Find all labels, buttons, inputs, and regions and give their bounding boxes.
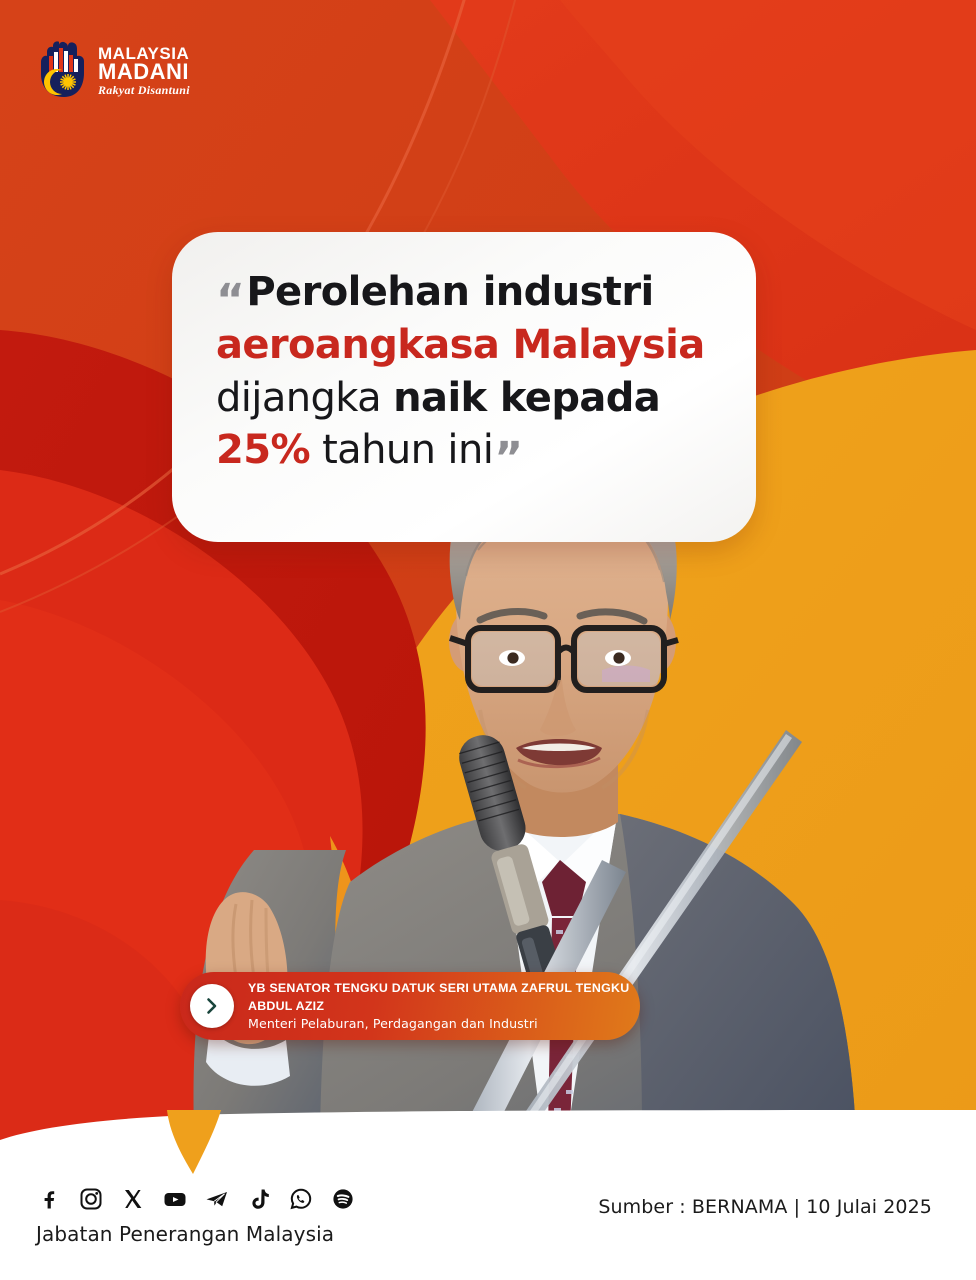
speaker-name-banner: YB SENATOR TENGKU DATUK SERI UTAMA ZAFRU… [180,972,640,1040]
quote-line-2: aeroangkasa Malaysia [216,319,730,372]
quote-card: “Perolehan industri aeroangkasa Malaysia… [172,232,756,542]
quote-close-mark: ” [494,433,522,484]
logo-line-madani: MADANI [98,61,190,83]
quote-percent: 25% [216,427,310,473]
chevron-right-icon [190,984,234,1028]
speaker-title: Menteri Pelaburan, Perdagangan dan Indus… [248,1016,538,1031]
youtube-icon[interactable] [162,1186,188,1212]
quote-line-3-bold: naik kepada [393,375,660,421]
instagram-icon[interactable] [78,1186,104,1212]
quote-open-mark: “ [216,275,244,326]
whatsapp-icon[interactable] [288,1186,314,1212]
tiktok-icon[interactable] [246,1186,272,1212]
quote-text: “Perolehan industri aeroangkasa Malaysia… [216,266,730,477]
logo-wordmark: MALAYSIA MADANI Rakyat Disantuni [98,43,190,96]
x-twitter-icon[interactable] [120,1186,146,1212]
quote-line-4-light: tahun ini [310,427,493,473]
quote-line-1-text: Perolehan industri [246,269,653,315]
poster-canvas: MALAYSIA MADANI Rakyat Disantuni [0,0,976,1280]
source-credit: Sumber : BERNAMA | 10 Julai 2025 [598,1196,932,1218]
spotify-icon[interactable] [330,1186,356,1212]
malaysia-madani-logo: MALAYSIA MADANI Rakyat Disantuni [38,38,198,100]
quote-line-1: “Perolehan industri [216,266,730,319]
footer-curve-shape [0,1110,976,1170]
madani-emblem-icon [38,40,90,98]
department-name: Jabatan Penerangan Malaysia [36,1222,334,1246]
amber-notch-shape [163,1110,227,1176]
logo-tagline: Rakyat Disantuni [98,84,190,96]
speaker-name-texts: YB SENATOR TENGKU DATUK SERI UTAMA ZAFRU… [248,979,640,1033]
facebook-icon[interactable] [36,1186,62,1212]
quote-line-2-text: aeroangkasa Malaysia [216,322,705,368]
quote-line-3-light: dijangka [216,375,393,421]
quote-line-3: dijangka naik kepada [216,372,730,425]
speaker-name: YB SENATOR TENGKU DATUK SERI UTAMA ZAFRU… [248,981,629,1013]
telegram-icon[interactable] [204,1186,230,1212]
quote-line-4: 25% tahun ini” [216,424,730,477]
footer: Jabatan Penerangan Malaysia Sumber : BER… [0,1152,976,1280]
social-links[interactable] [36,1186,356,1212]
